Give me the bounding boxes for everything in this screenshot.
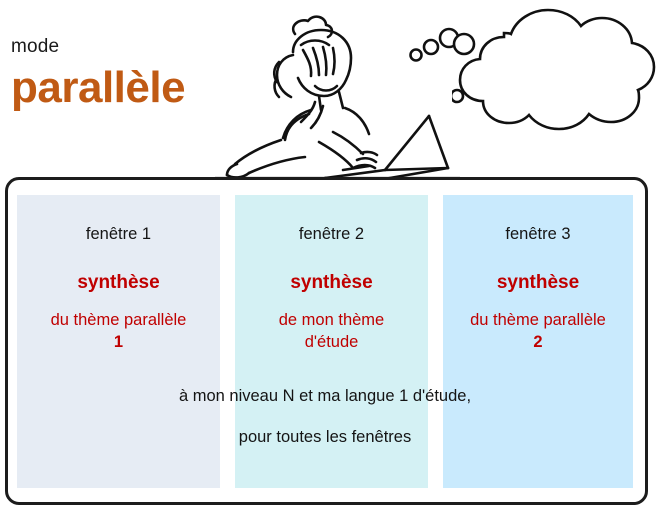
panel-2-detail-line-2: d'étude (305, 333, 359, 351)
caption: à mon niveau N et ma langue 1 d'étude, p… (17, 388, 633, 445)
panel-3-content: fenêtre 3 synthèse du thème parallèle 2 (443, 195, 633, 353)
panel-2-detail: de mon thème d'étude (235, 309, 428, 354)
person-studying-at-laptop-illustration (215, 0, 460, 180)
panel-1-content: fenêtre 1 synthèse du thème parallèle 1 (17, 195, 220, 353)
panel-3-detail: du thème parallèle 2 (443, 309, 633, 354)
panel-3-heading: synthèse (443, 272, 633, 295)
thought-bubble-cloud-icon (452, 4, 657, 136)
panel-1-heading: synthèse (17, 272, 220, 295)
person-laptop-line-art (215, 0, 460, 180)
panel-1-detail-line-1: du thème parallèle (51, 311, 187, 329)
page-title: parallèle (11, 66, 185, 110)
slide-canvas: mode parallèle (0, 0, 657, 515)
caption-line-1: à mon niveau N et ma langue 1 d'étude, (17, 388, 633, 405)
panel-1-detail: du thème parallèle 1 (17, 309, 220, 354)
panel-2-detail-line-1: de mon thème (279, 311, 384, 329)
panel-2-content: fenêtre 2 synthèse de mon thème d'étude (235, 195, 428, 353)
panel-2-window-title: fenêtre 2 (235, 225, 428, 245)
panel-2-heading: synthèse (235, 272, 428, 295)
panel-1-detail-emphasis: 1 (114, 333, 123, 351)
panel-3-detail-line-1: du thème parallèle (470, 311, 606, 329)
thought-bubble: j'apprends mieux par comparaison (452, 4, 657, 136)
caption-line-2: pour toutes les fenêtres (17, 429, 633, 446)
panel-3-detail-emphasis: 2 (533, 333, 542, 351)
mode-label: mode (11, 36, 59, 58)
panel-3-window-title: fenêtre 3 (443, 225, 633, 245)
panel-1-window-title: fenêtre 1 (17, 225, 220, 245)
